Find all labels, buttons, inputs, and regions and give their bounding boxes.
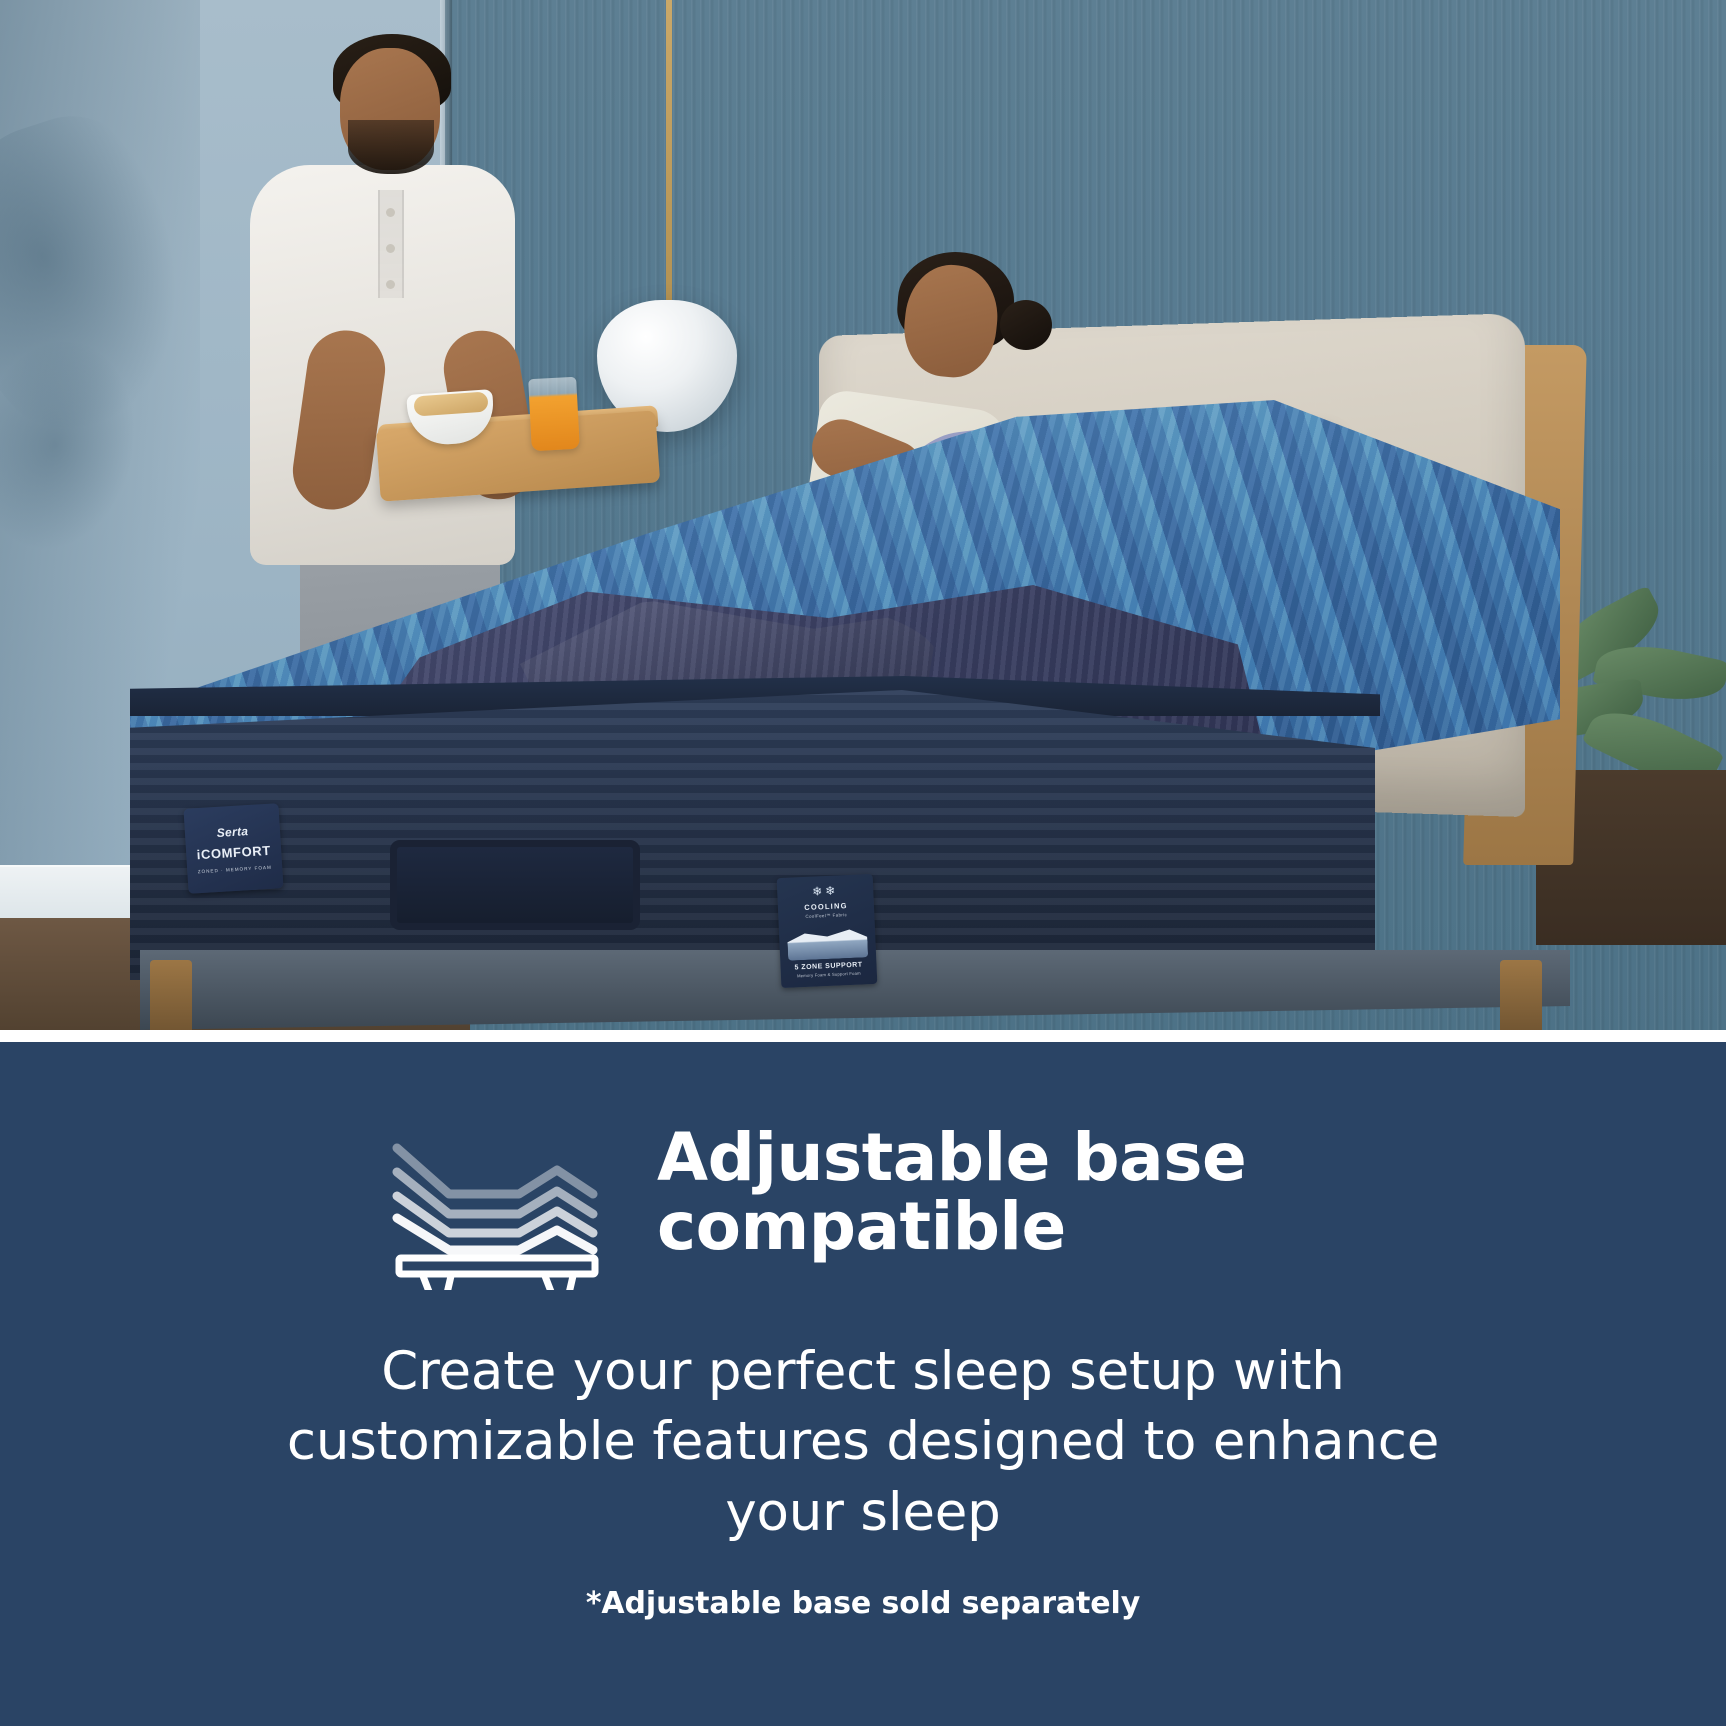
brand-tag-tagline: ZONED · MEMORY FOAM (198, 864, 272, 874)
man-shirt-button (386, 280, 395, 289)
snowflake-icon: ❄❄ (812, 884, 839, 897)
adjustable-base-icon (379, 1090, 609, 1295)
man-shirt-button (386, 244, 395, 253)
pendant-lamp-cord (666, 0, 672, 345)
orange-juice-glass (528, 377, 580, 451)
headline-row: Adjustable base compatible (0, 1090, 1726, 1295)
mattress-feature-tag: ❄❄ COOLING CoolFeel™ Fabric 5 ZONE SUPPO… (777, 874, 878, 988)
cooling-title: COOLING (804, 901, 848, 912)
man-shirt-button (386, 208, 395, 217)
bed-leg (150, 960, 192, 1040)
lifestyle-photo: Serta iCOMFORT ZONED · MEMORY FOAM ❄❄ CO… (0, 0, 1726, 1040)
feature-info-panel: Adjustable base compatible Create your p… (0, 1042, 1726, 1726)
mattress-brand-tag: Serta iCOMFORT ZONED · MEMORY FOAM (183, 803, 283, 894)
zone-support-diagram-icon (787, 923, 868, 960)
bed-leg (1500, 960, 1542, 1040)
cooling-subtitle: CoolFeel™ Fabric (805, 912, 847, 919)
woman-hair-bun (1000, 300, 1052, 350)
serta-logo-text: Serta (216, 825, 248, 839)
mattress-side-panel (130, 690, 1375, 980)
zone-support-subtitle: Memory Foam & Support Foam (797, 970, 861, 978)
product-feature-banner: Serta iCOMFORT ZONED · MEMORY FOAM ❄❄ CO… (0, 0, 1726, 1726)
feature-description: Create your perfect sleep setup with cus… (233, 1337, 1493, 1548)
icomfort-product-name: iCOMFORT (196, 842, 271, 861)
mattress-carry-handle (390, 840, 640, 930)
page-title: Adjustable base compatible (657, 1124, 1347, 1261)
man-beard (348, 120, 434, 174)
section-divider (0, 1030, 1726, 1042)
disclaimer-footnote: *Adjustable base sold separately (586, 1586, 1140, 1621)
